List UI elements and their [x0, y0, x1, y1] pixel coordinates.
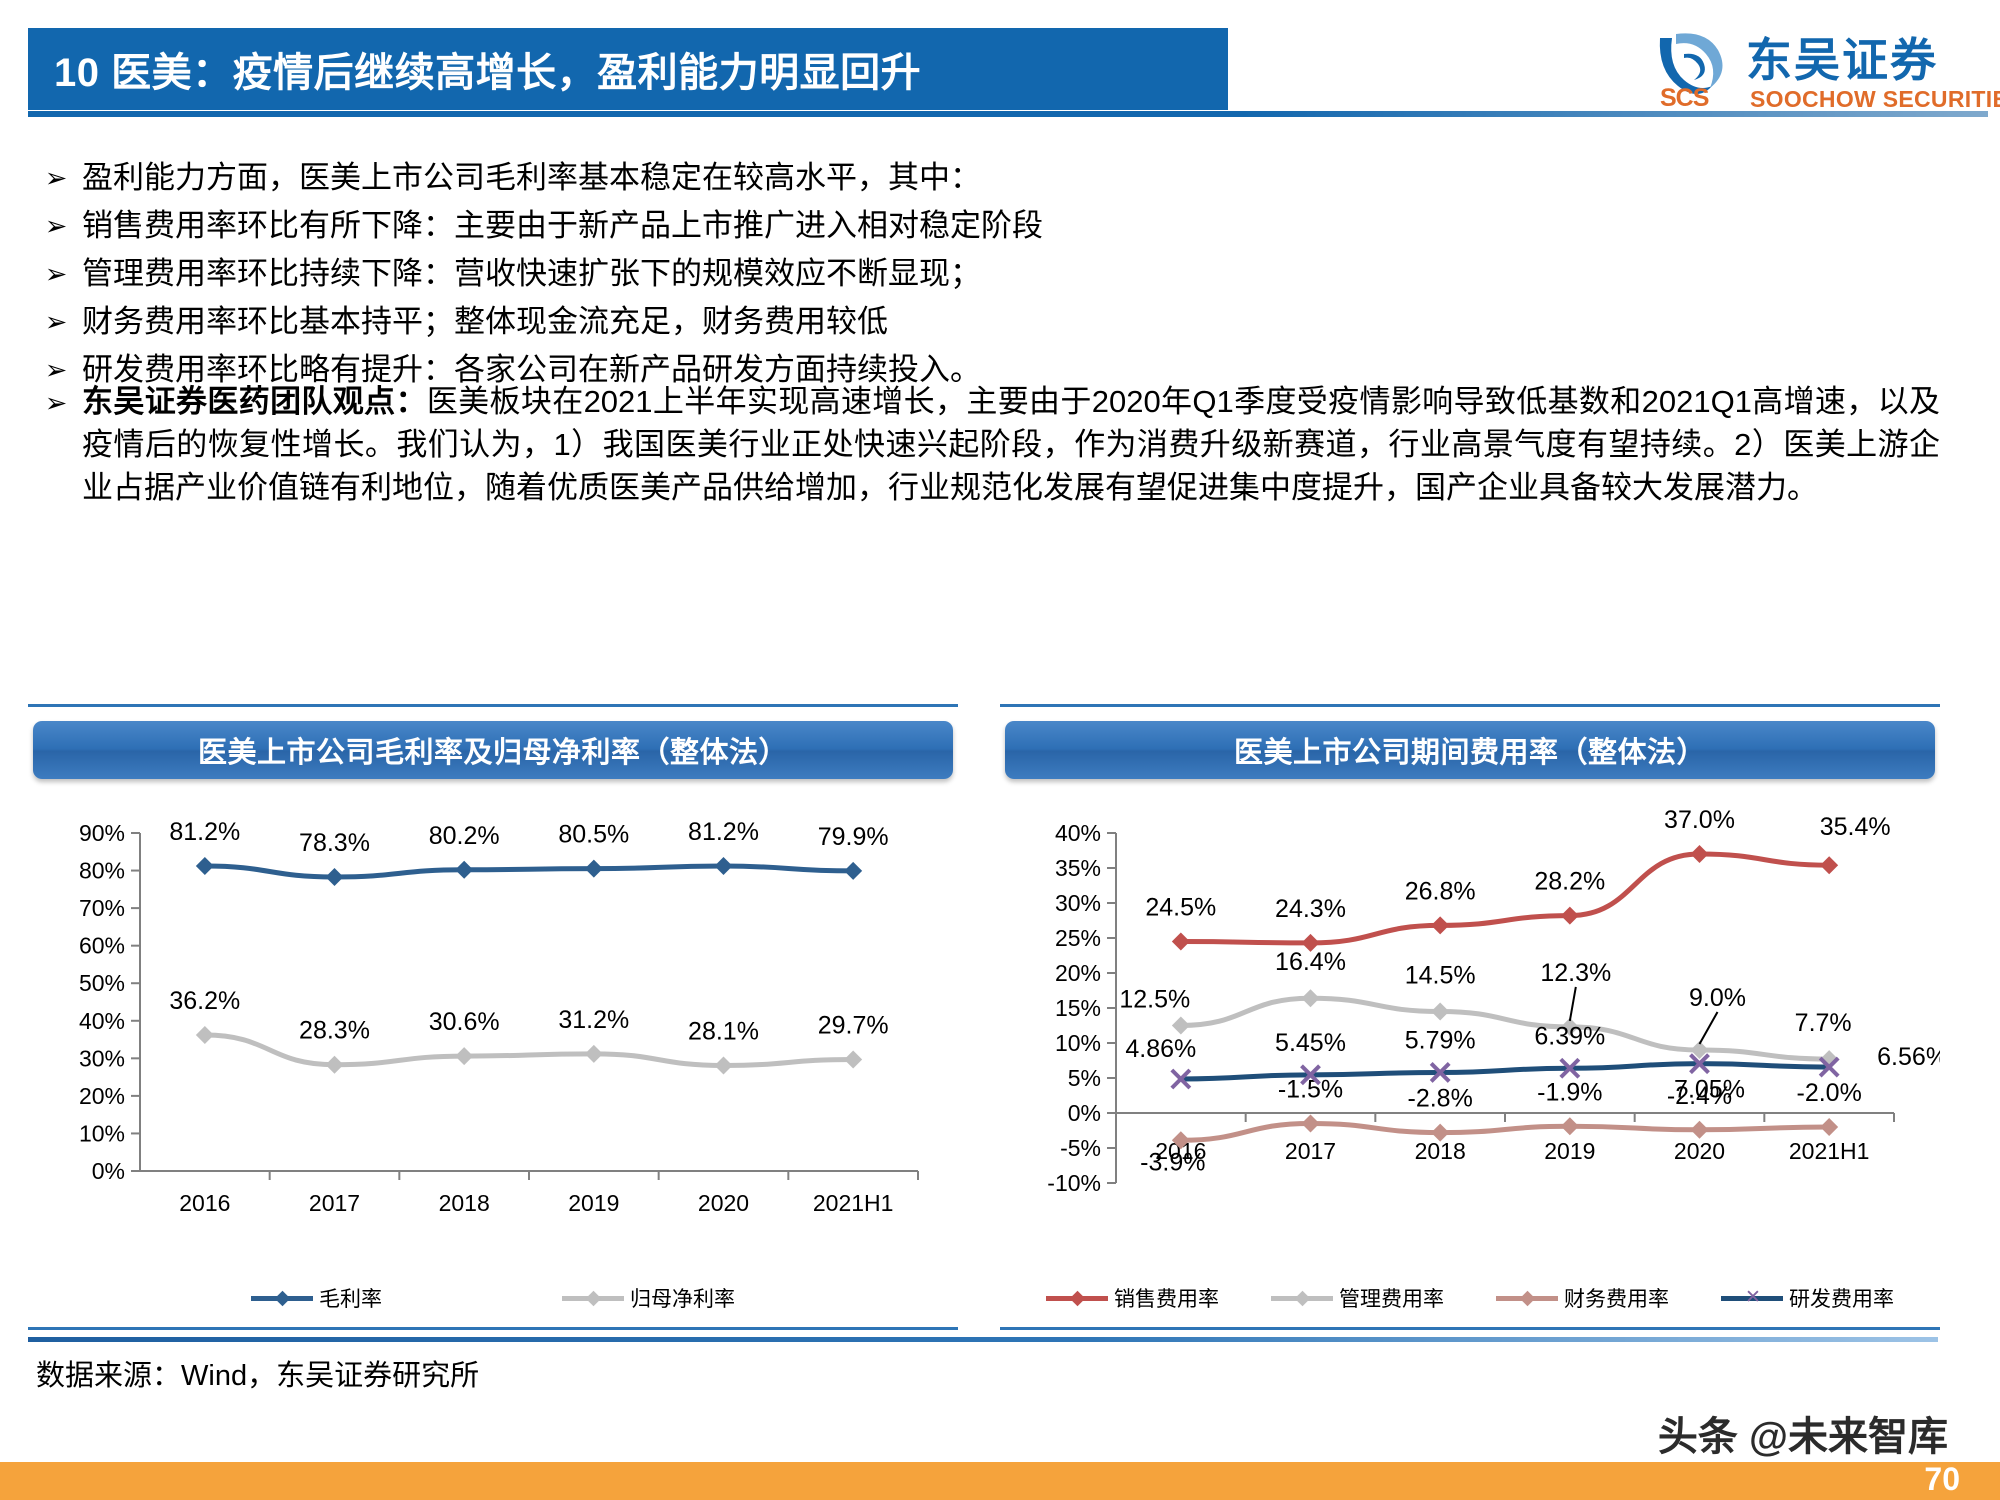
data-label: 9.0% — [1689, 984, 1746, 1012]
analyst-view-text: 东吴证券医药团队观点：医美板块在2021上半年实现高速增长，主要由于2020年Q… — [82, 380, 1940, 509]
legend-item[interactable]: 销售费用率 — [1046, 1283, 1219, 1313]
legend-swatch — [562, 1291, 624, 1305]
x-axis-tick-label: 2021H1 — [1789, 1138, 1870, 1164]
bullet-text: 财务费用率环比基本持平；整体现金流充足，财务费用较低 — [82, 299, 1930, 345]
legend-diamond-marker-icon — [1520, 1291, 1536, 1307]
y-axis-tick-label: 25% — [1055, 925, 1101, 951]
x-axis-tick-label: 2018 — [1415, 1138, 1466, 1164]
legend-label: 管理费用率 — [1339, 1283, 1444, 1313]
data-point-marker — [326, 1056, 344, 1074]
watermark-text: 头条 @未来智库 — [1658, 1404, 1948, 1462]
bullet-text: 销售费用率环比有所下降：主要由于新产品上市推广进入相对稳定阶段 — [82, 203, 1930, 249]
data-point-marker — [326, 868, 344, 886]
logo-abbrev: SCS — [1660, 84, 1708, 113]
data-label: 28.1% — [688, 1017, 759, 1045]
data-point-marker — [844, 1050, 862, 1068]
data-point-marker — [1172, 933, 1190, 951]
bullet-arrow-icon: ➢ — [30, 203, 82, 249]
chart-title-banner: 医美上市公司期间费用率（整体法） — [1005, 721, 1935, 779]
page-number: 70 — [1924, 1461, 1960, 1498]
data-label: 16.4% — [1275, 948, 1346, 976]
data-label: 81.2% — [688, 818, 759, 846]
legend-label: 研发费用率 — [1789, 1283, 1894, 1313]
data-point-marker — [1820, 1118, 1838, 1136]
header-divider — [28, 111, 1988, 117]
data-point-marker — [1691, 1121, 1709, 1139]
x-axis-tick-label: 2018 — [439, 1190, 490, 1216]
chart-panel-expense-ratios: 医美上市公司期间费用率（整体法） -10%-5%0%5%10%15%20%25%… — [1000, 704, 1940, 1330]
x-axis-tick-label: 2020 — [1674, 1138, 1725, 1164]
footer-bar: 70 — [0, 1462, 2000, 1500]
data-point-marker — [1431, 916, 1449, 934]
data-label: 35.4% — [1820, 813, 1891, 841]
chart-title: 医美上市公司毛利率及归母净利率（整体法） — [198, 729, 788, 771]
data-point-marker — [1302, 989, 1320, 1007]
y-axis-tick-label: 70% — [79, 895, 125, 921]
chart-plot-area: -10%-5%0%5%10%15%20%25%30%35%40%20162017… — [1000, 789, 1940, 1257]
source-divider — [28, 1337, 1938, 1342]
data-label: 79.9% — [818, 823, 889, 851]
x-axis-tick-label: 2016 — [179, 1190, 230, 1216]
data-label: 4.86% — [1125, 1035, 1196, 1063]
chart-svg: 0%10%20%30%40%50%60%70%80%90%20162017201… — [28, 789, 958, 1257]
bullet-arrow-icon: ➢ — [30, 155, 82, 201]
data-point-marker — [1820, 856, 1838, 874]
y-axis-tick-label: 0% — [1068, 1100, 1101, 1126]
legend-item[interactable]: 管理费用率 — [1271, 1283, 1444, 1313]
y-axis-tick-label: 50% — [79, 970, 125, 996]
bullet-arrow-icon: ➢ — [30, 299, 82, 345]
chart-plot-area: 0%10%20%30%40%50%60%70%80%90%20162017201… — [28, 789, 958, 1257]
data-point-marker — [715, 857, 733, 875]
analyst-view-paragraph: ➢ 东吴证券医药团队观点：医美板块在2021上半年实现高速增长，主要由于2020… — [30, 380, 1940, 509]
data-point-marker — [455, 861, 473, 879]
bullet-item: ➢ 盈利能力方面，医美上市公司毛利率基本稳定在较高水平，其中： — [30, 155, 1930, 201]
y-axis-tick-label: 40% — [79, 1008, 125, 1034]
data-point-marker — [1431, 1003, 1449, 1021]
bullet-arrow-icon: ➢ — [30, 380, 82, 426]
data-point-marker — [455, 1047, 473, 1065]
data-label: 5.45% — [1275, 1029, 1346, 1057]
chart-svg: -10%-5%0%5%10%15%20%25%30%35%40%20162017… — [1000, 789, 1940, 1257]
bullet-item: ➢ 销售费用率环比有所下降：主要由于新产品上市推广进入相对稳定阶段 — [30, 203, 1930, 249]
data-label: 24.3% — [1275, 895, 1346, 923]
slide-header-bar: 10 医美：疫情后继续高增长，盈利能力明显回升 — [28, 28, 1228, 110]
y-axis-tick-label: 40% — [1055, 820, 1101, 846]
chart-legend: 销售费用率管理费用率财务费用率✕研发费用率 — [1000, 1283, 1940, 1313]
data-label: -2.0% — [1797, 1079, 1862, 1107]
y-axis-tick-label: 5% — [1068, 1065, 1101, 1091]
data-point-marker — [844, 862, 862, 880]
legend-swatch — [1046, 1291, 1108, 1305]
data-label: 28.2% — [1534, 868, 1605, 896]
data-label: 29.7% — [818, 1011, 889, 1039]
data-point-marker — [1561, 1117, 1579, 1135]
bullet-list: ➢ 盈利能力方面，医美上市公司毛利率基本稳定在较高水平，其中： ➢ 销售费用率环… — [30, 155, 1930, 395]
legend-item[interactable]: 归母净利率 — [562, 1283, 735, 1313]
legend-diamond-marker-icon — [586, 1291, 602, 1307]
data-point-marker — [196, 1026, 214, 1044]
chart-title: 医美上市公司期间费用率（整体法） — [1234, 729, 1706, 771]
data-label: 30.6% — [429, 1008, 500, 1036]
data-label: 5.79% — [1405, 1026, 1476, 1054]
brand-logo: 东吴证券 SCS SOOCHOW SECURITIES — [1654, 22, 1984, 118]
y-axis-tick-label: 20% — [79, 1083, 125, 1109]
y-axis-tick-label: -10% — [1047, 1170, 1101, 1196]
data-label: 6.39% — [1534, 1022, 1605, 1050]
data-label: 26.8% — [1405, 877, 1476, 905]
data-point-marker — [715, 1056, 733, 1074]
x-axis-tick-label: 2019 — [568, 1190, 619, 1216]
bullet-arrow-icon: ➢ — [30, 251, 82, 297]
logo-english-name: SOOCHOW SECURITIES — [1750, 86, 2000, 113]
data-label: 6.56% — [1877, 1043, 1940, 1071]
chart-panel-profitability: 医美上市公司毛利率及归母净利率（整体法） 0%10%20%30%40%50%60… — [28, 704, 958, 1330]
data-label: 24.5% — [1145, 894, 1216, 922]
data-point-marker — [1561, 907, 1579, 925]
legend-label: 财务费用率 — [1564, 1283, 1669, 1313]
data-label: 7.7% — [1795, 1009, 1852, 1037]
chart-legend: 毛利率归母净利率 — [28, 1283, 958, 1313]
data-label: 12.5% — [1119, 986, 1190, 1014]
legend-diamond-marker-icon — [275, 1291, 291, 1307]
legend-swatch — [251, 1291, 313, 1305]
x-axis-tick-label: 2020 — [698, 1190, 749, 1216]
bullet-item: ➢ 财务费用率环比基本持平；整体现金流充足，财务费用较低 — [30, 299, 1930, 345]
legend-item[interactable]: 财务费用率 — [1496, 1283, 1669, 1313]
series-line — [205, 866, 853, 877]
x-axis-tick-label: 2017 — [1285, 1138, 1336, 1164]
data-label: -3.9% — [1140, 1148, 1205, 1176]
data-label: -2.8% — [1408, 1085, 1473, 1113]
data-label: 80.2% — [429, 822, 500, 850]
y-axis-tick-label: 0% — [92, 1158, 125, 1184]
logo-chinese-name: 东吴证券 — [1746, 24, 1938, 90]
data-label: 36.2% — [169, 987, 240, 1015]
label-leader-line — [1570, 987, 1576, 1021]
data-source-text: 数据来源：Wind，东吴证券研究所 — [36, 1352, 479, 1394]
data-point-marker — [585, 860, 603, 878]
legend-item[interactable]: ✕研发费用率 — [1721, 1283, 1894, 1313]
data-label: 28.3% — [299, 1017, 370, 1045]
legend-swatch — [1496, 1291, 1558, 1305]
bullet-item: ➢ 管理费用率环比持续下降：营收快速扩张下的规模效应不断显现； — [30, 251, 1930, 297]
x-axis-tick-label: 2017 — [309, 1190, 360, 1216]
label-leader-line — [1700, 1012, 1718, 1044]
legend-label: 销售费用率 — [1114, 1283, 1219, 1313]
legend-item[interactable]: 毛利率 — [251, 1283, 382, 1313]
y-axis-tick-label: 20% — [1055, 960, 1101, 986]
x-axis-tick-label: 2019 — [1544, 1138, 1595, 1164]
data-label: 37.0% — [1664, 806, 1735, 834]
data-label: 31.2% — [558, 1006, 629, 1034]
y-axis-tick-label: 30% — [79, 1045, 125, 1071]
y-axis-tick-label: 90% — [79, 820, 125, 846]
legend-diamond-marker-icon — [1295, 1291, 1311, 1307]
data-label: -1.9% — [1537, 1078, 1602, 1106]
chart-title-banner: 医美上市公司毛利率及归母净利率（整体法） — [33, 721, 953, 779]
data-label: 7.05% — [1674, 1076, 1745, 1104]
legend-swatch: ✕ — [1721, 1291, 1783, 1305]
legend-swatch — [1271, 1291, 1333, 1305]
data-point-marker — [585, 1045, 603, 1063]
data-point-marker — [1691, 845, 1709, 863]
series-line — [1181, 1124, 1829, 1141]
data-point-marker — [1302, 1115, 1320, 1133]
data-label: 78.3% — [299, 829, 370, 857]
legend-label: 毛利率 — [319, 1283, 382, 1313]
x-axis-tick-label: 2021H1 — [813, 1190, 894, 1216]
data-label: 14.5% — [1405, 962, 1476, 990]
legend-x-marker-icon: ✕ — [1745, 1291, 1759, 1305]
data-point-marker — [1172, 1017, 1190, 1035]
data-label: -1.5% — [1278, 1076, 1343, 1104]
y-axis-tick-label: 10% — [1055, 1030, 1101, 1056]
y-axis-tick-label: 60% — [79, 933, 125, 959]
y-axis-tick-label: 30% — [1055, 890, 1101, 916]
y-axis-tick-label: 35% — [1055, 855, 1101, 881]
legend-diamond-marker-icon — [1070, 1291, 1086, 1307]
data-label: 81.2% — [169, 818, 240, 846]
page-title: 10 医美：疫情后继续高增长，盈利能力明显回升 — [28, 40, 921, 98]
y-axis-tick-label: 15% — [1055, 995, 1101, 1021]
bullet-text: 管理费用率环比持续下降：营收快速扩张下的规模效应不断显现； — [82, 251, 1930, 297]
y-axis-tick-label: 80% — [79, 858, 125, 884]
data-point-marker — [196, 857, 214, 875]
data-label: 12.3% — [1540, 959, 1611, 987]
data-label: 80.5% — [558, 821, 629, 849]
legend-label: 归母净利率 — [630, 1283, 735, 1313]
y-axis-tick-label: 10% — [79, 1120, 125, 1146]
bullet-text: 盈利能力方面，医美上市公司毛利率基本稳定在较高水平，其中： — [82, 155, 1930, 201]
analyst-view-lead: 东吴证券医药团队观点： — [82, 384, 427, 419]
y-axis-tick-label: -5% — [1060, 1135, 1101, 1161]
